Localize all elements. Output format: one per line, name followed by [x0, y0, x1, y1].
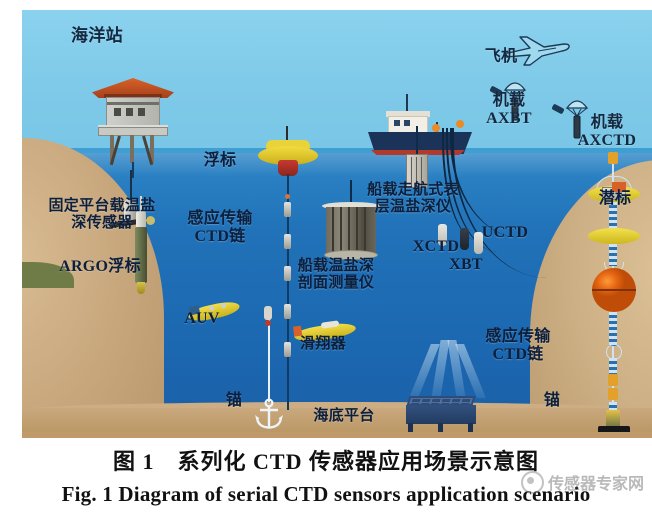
label-airborne-axctd: 机载 AXCTD — [562, 114, 652, 150]
label-subsurface-mooring: 潜标 — [584, 190, 646, 208]
illustration-scene: 海洋站 固定平台载温盐 深传感器 ARGO浮标 浮标 感应传输 CTD链 AUV… — [22, 10, 652, 438]
rosette-frame-bar — [332, 207, 334, 253]
label-xbt: XBT — [440, 256, 492, 274]
label-buoy: 浮标 — [188, 152, 252, 170]
mooring-sphere-band — [592, 289, 636, 291]
label-glider: 滑翔器 — [284, 336, 362, 353]
platform-grid — [409, 398, 473, 404]
mooring-chain-segment — [609, 312, 617, 346]
figure-container: 海洋站 固定平台载温盐 深传感器 ARGO浮标 浮标 感应传输 CTD链 AUV… — [0, 0, 652, 522]
ctd-winch-cable — [416, 126, 418, 156]
figure-bottom-strip — [22, 432, 652, 438]
glider-nose-fin — [293, 326, 302, 337]
ctd-chain-marker — [285, 194, 290, 199]
ship-deck-lamp — [456, 120, 464, 128]
label-aircraft: 飞机 — [472, 48, 530, 66]
station-window — [126, 108, 133, 116]
label-anchor-left: 锚 — [212, 392, 256, 410]
platform-leg — [408, 423, 413, 432]
label-fixed-platform-ctd: 固定平台载温盐 深传感器 — [22, 198, 184, 232]
label-uctd: UCTD — [472, 224, 538, 242]
watermark-text: 传感器专家网 — [548, 470, 644, 494]
label-shipborne-profiler: 船载温盐深 剖面测量仪 — [268, 258, 404, 292]
ship-window — [394, 120, 400, 126]
platform-leg — [468, 423, 473, 432]
ship-mast — [406, 94, 408, 112]
station-house-band — [107, 102, 159, 105]
platform-leg — [438, 423, 443, 432]
ship-deck-lamp — [432, 124, 440, 132]
ctd-chain-node — [284, 234, 291, 249]
watermark-logo-icon — [521, 471, 544, 494]
station-window — [114, 108, 121, 116]
surface-buoy — [258, 138, 318, 188]
watermark: 传感器专家网 — [521, 470, 644, 494]
mooring-surface-marker — [608, 152, 618, 164]
label-auv: AUV — [172, 310, 232, 328]
mooring-instrument-pod — [588, 228, 640, 244]
station-window — [138, 108, 145, 116]
label-airborne-axbt: 机载 AXBT — [466, 92, 552, 128]
mooring-ctd-node — [608, 388, 618, 400]
ship-window — [404, 120, 410, 126]
label-seabed-platform: 海底平台 — [294, 408, 394, 425]
ocean-station-structure — [90, 78, 176, 164]
station-support-leg — [130, 135, 134, 163]
ctd-chain-node — [284, 304, 291, 319]
mooring-subsurface-float — [264, 306, 272, 320]
anchor-icon — [254, 398, 284, 430]
platform-body — [406, 405, 476, 424]
label-argo-float: ARGO浮标 — [30, 258, 170, 276]
label-inductive-ctd-chain-left: 感应传输 CTD链 — [162, 210, 278, 246]
mooring-ctd-node — [608, 374, 618, 386]
argo-tail — [137, 282, 145, 294]
seabed-observation-platform — [404, 396, 478, 432]
label-inductive-ctd-chain-right: 感应传输 CTD链 — [460, 328, 576, 364]
mooring-marker — [265, 320, 271, 326]
ctd-chain-node — [284, 202, 291, 217]
label-xctd: XCTD — [406, 238, 466, 256]
label-anchor-right: 锚 — [530, 392, 574, 410]
label-ocean-station: 海洋站 — [52, 26, 142, 45]
label-shipborne-underway: 船载走航式表 层温盐深仪 — [338, 182, 488, 216]
